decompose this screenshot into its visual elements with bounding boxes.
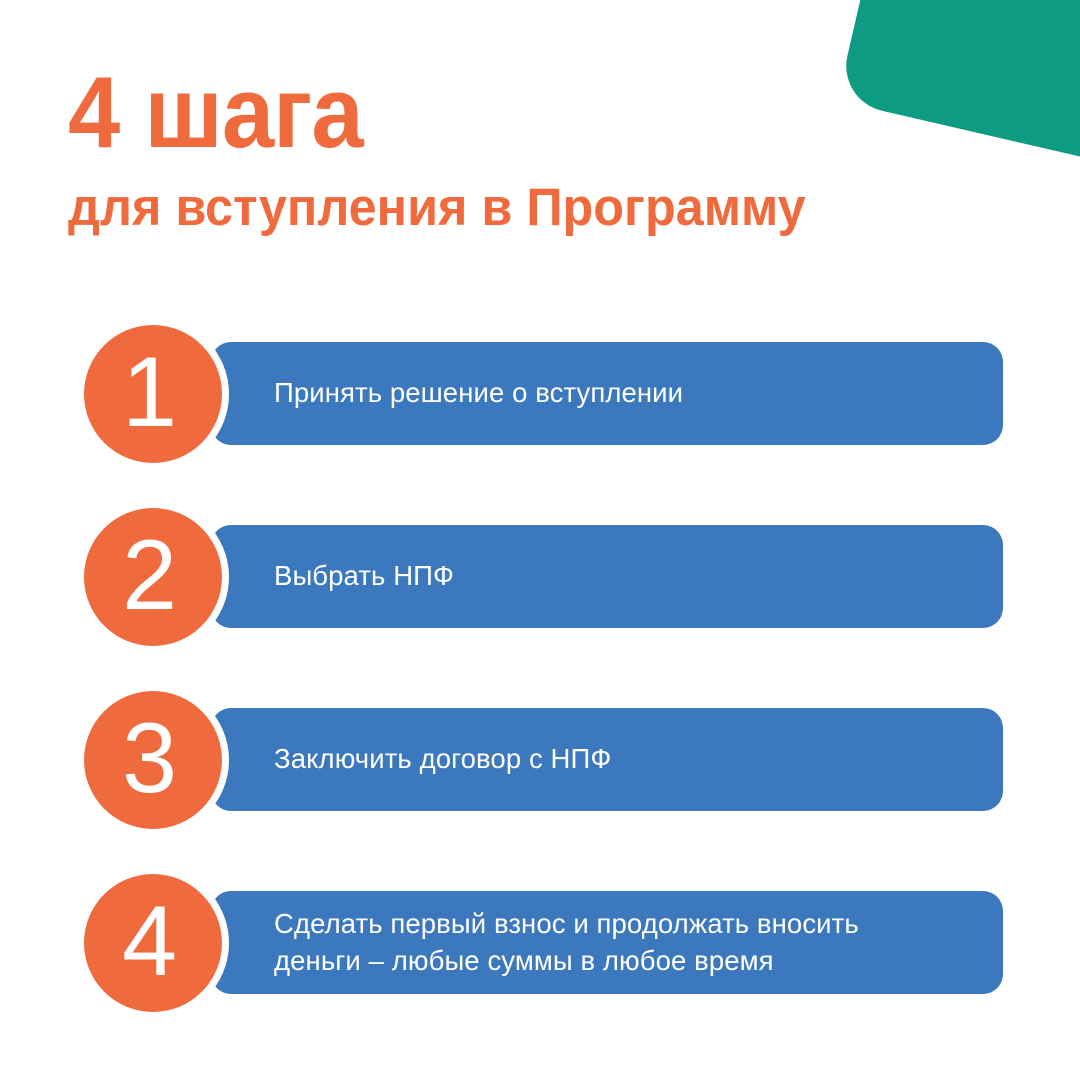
step-badge-3: 3 xyxy=(84,691,222,829)
steps-list: Принять решение о вступлении 1 Выбрать Н… xyxy=(0,325,1080,1057)
step-label-2: Выбрать НПФ xyxy=(211,558,482,595)
title-block: 4 шага для вступления в Программу xyxy=(68,62,1028,237)
list-item: Выбрать НПФ 2 xyxy=(0,508,1080,646)
list-item: Принять решение о вступлении 1 xyxy=(0,325,1080,463)
page-subtitle: для вступления в Программу xyxy=(68,179,980,237)
step-label-1: Принять решение о вступлении xyxy=(211,375,711,412)
step-badge-2: 2 xyxy=(84,508,222,646)
step-bar-1: Принять решение о вступлении xyxy=(211,342,1003,445)
step-label-4: Сделать первый взнос и продолжать вносит… xyxy=(211,906,887,979)
step-number-2: 2 xyxy=(122,525,176,624)
step-bar-2: Выбрать НПФ xyxy=(211,525,1003,628)
list-item: Сделать первый взнос и продолжать вносит… xyxy=(0,874,1080,1012)
infographic-canvas: 4 шага для вступления в Программу Принят… xyxy=(0,0,1080,1080)
step-bar-3: Заключить договор с НПФ xyxy=(211,708,1003,811)
list-item: Заключить договор с НПФ 3 xyxy=(0,691,1080,829)
step-badge-1: 1 xyxy=(84,325,222,463)
step-number-3: 3 xyxy=(122,708,176,807)
step-label-3: Заключить договор с НПФ xyxy=(211,741,639,778)
step-badge-4: 4 xyxy=(84,874,222,1012)
page-title: 4 шага xyxy=(68,62,961,165)
step-number-1: 1 xyxy=(122,342,176,441)
step-number-4: 4 xyxy=(122,891,176,990)
step-bar-4: Сделать первый взнос и продолжать вносит… xyxy=(211,891,1003,994)
